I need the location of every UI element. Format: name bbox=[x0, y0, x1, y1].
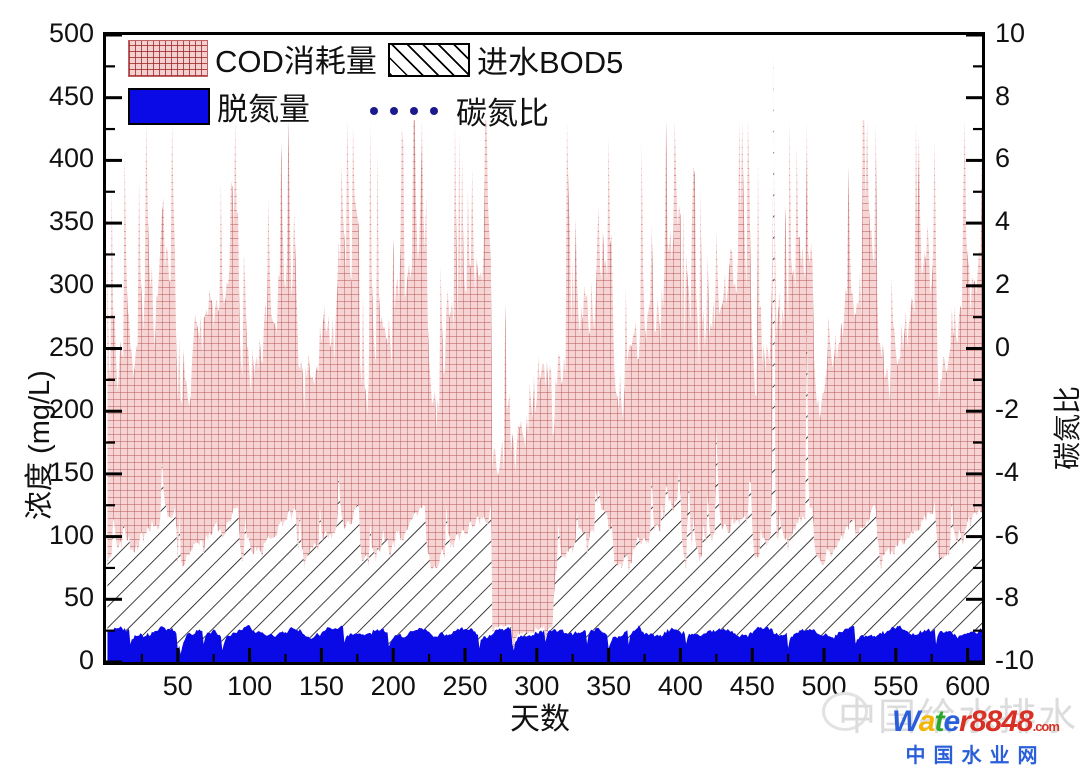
y-tick-right--8: -8 bbox=[995, 582, 1019, 613]
legend-swatch-cn-ratio bbox=[370, 107, 438, 115]
legend-item-bod5: 进水BOD5 bbox=[388, 37, 623, 82]
legend-label-denitrification: 脱氮量 bbox=[217, 84, 310, 129]
y-tick-right-0: 0 bbox=[995, 332, 1010, 363]
legend-item-denitrification: 脱氮量 bbox=[128, 84, 310, 129]
chart-figure: 浓度 (mg/L) 碳氮比 天数 bbox=[0, 0, 1080, 751]
legend-item-cn-ratio: 碳氮比 bbox=[370, 88, 549, 133]
y-tick-left-0: 0 bbox=[18, 645, 94, 676]
legend-swatch-denitrification bbox=[128, 88, 210, 125]
wm-digits: 8848 bbox=[970, 705, 1033, 738]
legend-label-bod5: 进水BOD5 bbox=[477, 37, 623, 82]
wm-letter-r: r bbox=[959, 705, 970, 738]
y-tick-left-450: 450 bbox=[18, 81, 94, 112]
y-tick-left-150: 150 bbox=[18, 457, 94, 488]
y-tick-right--4: -4 bbox=[995, 457, 1019, 488]
wm-letter-e: e bbox=[943, 705, 959, 738]
y-tick-right--6: -6 bbox=[995, 520, 1019, 551]
y-tick-left-50: 50 bbox=[18, 582, 94, 613]
y-tick-left-400: 400 bbox=[18, 143, 94, 174]
y-tick-left-350: 350 bbox=[18, 206, 94, 237]
y-tick-right--2: -2 bbox=[995, 394, 1019, 425]
y-axis-label-left: 浓度 (mg/L) bbox=[16, 370, 58, 520]
y-axis-label-right: 碳氮比 bbox=[1046, 386, 1080, 470]
legend-label-cn-ratio: 碳氮比 bbox=[456, 88, 549, 133]
y-tick-left-300: 300 bbox=[18, 269, 94, 300]
chart-legend: COD消耗量 进水BOD5 脱氮量 碳氮比 bbox=[120, 36, 600, 120]
y-tick-right-8: 8 bbox=[995, 81, 1010, 112]
y-tick-left-250: 250 bbox=[18, 332, 94, 363]
y-tick-left-200: 200 bbox=[18, 394, 94, 425]
y-tick-right-6: 6 bbox=[995, 143, 1010, 174]
legend-label-cod: COD消耗量 bbox=[215, 36, 377, 81]
legend-swatch-bod5 bbox=[388, 43, 470, 77]
watermark-cn-text: 中国水业网 bbox=[892, 739, 1059, 768]
y-tick-left-100: 100 bbox=[18, 520, 94, 551]
legend-swatch-cod bbox=[128, 40, 208, 77]
watermark-brand: Water8848.com bbox=[892, 707, 1059, 737]
y-tick-right-10: 10 bbox=[995, 18, 1025, 49]
y-tick-right-2: 2 bbox=[995, 269, 1010, 300]
y-tick-right-4: 4 bbox=[995, 206, 1010, 237]
wm-letter-w: W bbox=[892, 705, 919, 738]
y-tick-left-500: 500 bbox=[18, 18, 94, 49]
legend-item-cod: COD消耗量 bbox=[128, 36, 377, 81]
wm-letter-a: a bbox=[919, 705, 935, 738]
watermark: Water8848.com 中国水业网 bbox=[892, 707, 1059, 768]
wm-tld: .com bbox=[1033, 719, 1059, 734]
